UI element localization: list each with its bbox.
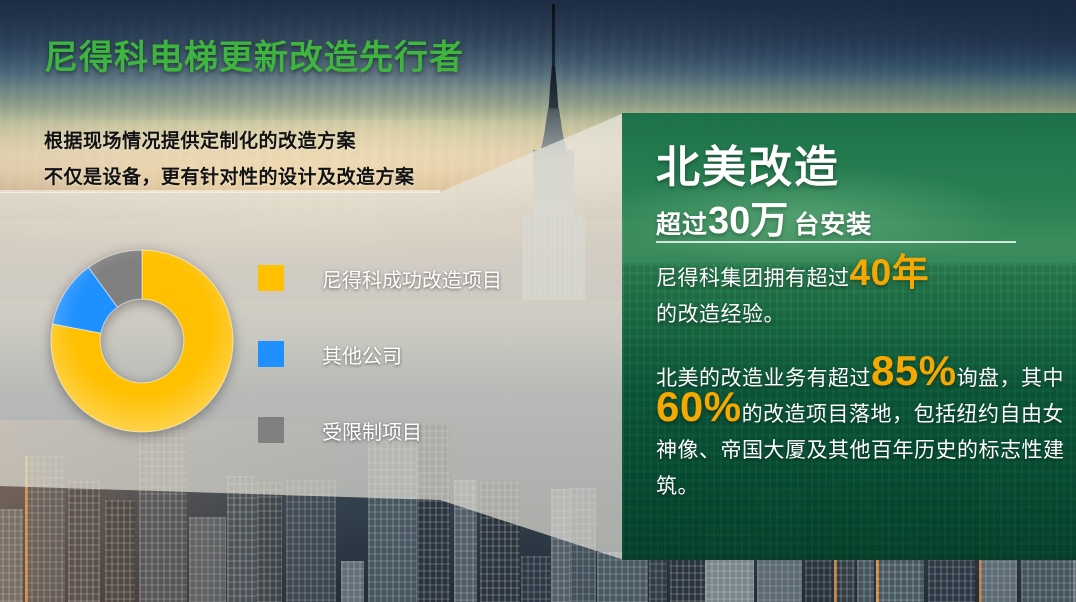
panel-paragraph-2: 北美的改造业务有超过85%询盘，其中60%的改造项目落地，包括纽约自由女神像、帝… <box>656 361 1066 505</box>
paragraph-1-lead: 尼得科集团拥有超过 <box>656 267 850 290</box>
donut-svg <box>50 249 234 433</box>
paragraph-1-tail: 的改造经验。 <box>656 303 785 326</box>
page-title: 尼得科电梯更新改造先行者 <box>44 30 464 79</box>
panel-paragraph-1: 尼得科集团拥有超过40年 的改造经验。 <box>656 261 1056 333</box>
legend-item-restricted: 受限制项目 <box>258 416 558 444</box>
paragraph-2-mid: 询盘，其中 <box>957 367 1065 390</box>
veil-top-edge <box>0 190 440 193</box>
paragraph-1-highlight: 40年 <box>850 252 930 293</box>
panel-heading: 北美改造 <box>656 131 840 195</box>
paragraph-2-highlight-60: 60% <box>656 383 742 430</box>
legend-item-nidec: 尼得科成功改造项目 <box>258 264 558 292</box>
subtitle-line-1: 根据现场情况提供定制化的改造方案 <box>44 126 356 153</box>
legend-swatch-yellow <box>258 265 284 291</box>
donut-chart <box>50 249 234 433</box>
panel-subheading: 超过30万台安装 <box>656 189 872 244</box>
panel-divider <box>656 241 1016 243</box>
legend-swatch-gray <box>258 417 284 443</box>
north-america-panel: 北美改造 超过30万台安装 尼得科集团拥有超过40年 的改造经验。 北美的改造业… <box>622 113 1076 560</box>
donut-chart-graphic <box>50 249 234 433</box>
chart-legend: 尼得科成功改造项目 其他公司 受限制项目 <box>258 264 558 492</box>
panel-subheading-prefix: 超过 <box>656 211 708 239</box>
city-building <box>570 488 596 602</box>
building-upper <box>533 150 574 220</box>
legend-label-other-companies: 其他公司 <box>322 340 402 369</box>
subtitle-line-2: 不仅是设备，更有针对性的设计及改造方案 <box>44 162 415 189</box>
building-mast <box>547 66 560 110</box>
panel-subheading-suffix: 台安装 <box>794 211 872 239</box>
paragraph-2-highlight-85: 85% <box>871 347 957 394</box>
legend-item-other-companies: 其他公司 <box>258 340 558 368</box>
legend-label-restricted: 受限制项目 <box>322 416 422 445</box>
legend-label-nidec: 尼得科成功改造项目 <box>322 264 502 293</box>
panel-subheading-number: 30万 <box>708 200 788 242</box>
building-spire <box>552 4 555 74</box>
building-crown <box>540 108 567 154</box>
slide-canvas: 尼得科电梯更新改造先行者 根据现场情况提供定制化的改造方案 不仅是设备，更有针对… <box>0 0 1076 602</box>
city-building-windows <box>570 488 596 602</box>
legend-swatch-blue <box>258 341 284 367</box>
